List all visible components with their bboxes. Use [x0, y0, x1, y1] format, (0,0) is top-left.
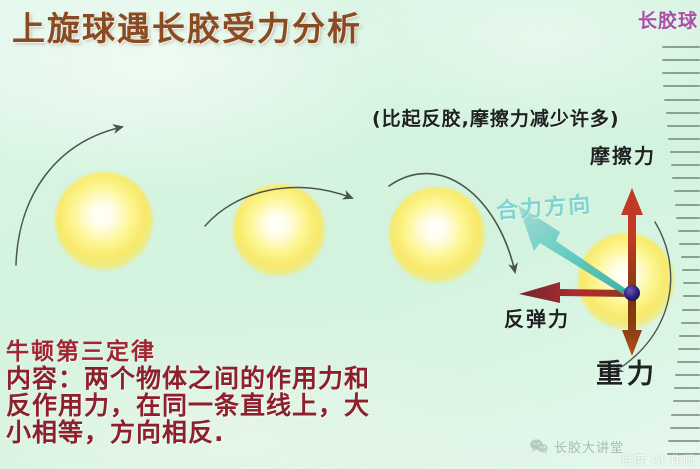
rubber-pimple-line	[679, 243, 700, 245]
rubber-pimple-line	[674, 190, 700, 192]
rubber-pimple-line	[672, 177, 700, 179]
rubber-pimple-line	[662, 59, 700, 61]
rubber-pimple-line	[676, 217, 700, 219]
rubber-pimple-line	[670, 427, 700, 429]
wechat-icon	[530, 439, 548, 454]
rubber-pimple-line	[679, 335, 700, 337]
rubber-pimple-line	[682, 269, 700, 271]
ball-3	[389, 187, 485, 283]
rubber-pimple-line	[682, 309, 700, 311]
rubber-pimple-line	[678, 348, 700, 350]
rubber-pimple-line	[677, 361, 700, 363]
rubber-pimple-line	[675, 204, 700, 206]
rubber-pimple-line	[667, 125, 700, 127]
rubber-pimple-line	[668, 138, 700, 140]
corner-label-long-pimple: 长胶球	[638, 6, 698, 33]
illustration-canvas: 上旋球遇长胶受力分析 长胶球	[0, 0, 700, 469]
rubber-pimple-line	[683, 282, 700, 284]
rubber-pimple-line	[664, 99, 700, 101]
rebound-vector	[519, 282, 630, 303]
rubber-pimple-line	[663, 85, 700, 87]
ball-4	[578, 233, 674, 329]
label-friction: 摩擦力	[590, 140, 656, 169]
note-friction-comparison: (比起反胶,摩擦力减少许多)	[372, 104, 620, 131]
law-line-2: 反作用力，在同一条直线上，大	[6, 392, 370, 419]
force-origin-dot	[624, 285, 640, 301]
ball-2	[233, 184, 325, 276]
rubber-pimple-line	[671, 414, 700, 416]
rubber-pimple-line	[671, 164, 700, 166]
newtons-third-law-block: 牛顿第三定律 内容：两个物体之间的作用力和 反作用力，在同一条直线上，大 小相等…	[6, 340, 370, 446]
baidu-watermark: 百度 AI 作画	[621, 451, 696, 468]
rubber-pimple-line	[681, 256, 700, 258]
label-rebound: 反弹力	[504, 303, 570, 332]
law-title: 牛顿第三定律	[6, 340, 370, 365]
rubber-pimple-line	[675, 374, 700, 376]
wechat-watermark: 长胶大讲堂	[530, 437, 624, 456]
law-line-1: 内容：两个物体之间的作用力和	[6, 365, 370, 392]
spin-arc-1	[16, 127, 122, 265]
page-title: 上旋球遇长胶受力分析	[12, 2, 362, 50]
label-resultant-direction: 合力方向	[495, 187, 593, 226]
rubber-pimple-line	[662, 46, 700, 48]
gravity-vector	[622, 296, 642, 356]
label-gravity: 重力	[596, 352, 658, 391]
ball-1	[55, 172, 153, 270]
long-pimple-rubber	[654, 44, 700, 464]
spin-arc-4	[614, 222, 671, 372]
rubber-pimple-line	[683, 295, 700, 297]
rubber-pimple-line	[670, 151, 700, 153]
rubber-pimple-line	[678, 230, 700, 232]
law-line-3: 小相等，方向相反.	[6, 419, 370, 446]
friction-vector	[621, 188, 643, 290]
spin-arc-2	[205, 187, 352, 226]
rubber-pimple-line	[668, 440, 700, 442]
rubber-pimple-line	[674, 387, 700, 389]
rubber-pimple-line	[681, 322, 700, 324]
wechat-watermark-text: 长胶大讲堂	[554, 437, 624, 456]
rubber-pimple-line	[673, 400, 700, 402]
rubber-pimple-line	[666, 112, 700, 114]
rubber-pimple-line	[662, 72, 700, 74]
